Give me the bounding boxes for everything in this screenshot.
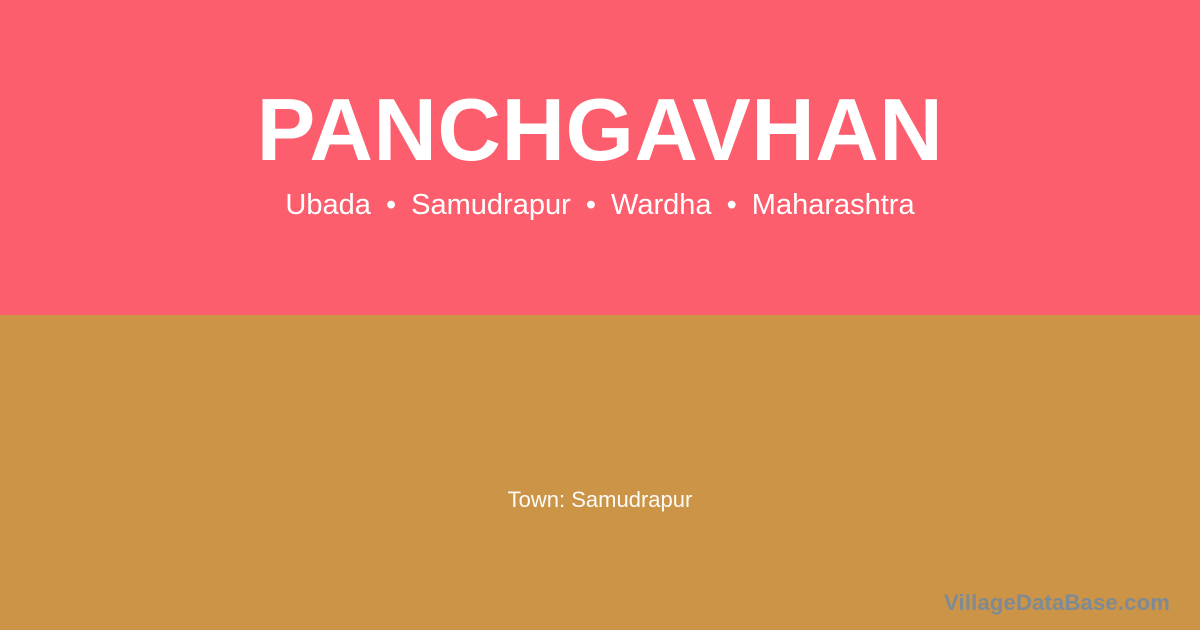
breadcrumb-separator-icon: • (720, 188, 744, 223)
hero-banner: PANCHGAVHAN Ubada • Samudrapur • Wardha … (0, 0, 1200, 315)
breadcrumb-item-state: Maharashtra (752, 189, 915, 221)
breadcrumb-separator-icon: • (379, 188, 403, 223)
breadcrumb-item-town: Samudrapur (411, 189, 571, 221)
town-detail: Town: Samudrapur (0, 486, 1200, 515)
breadcrumb-item-panchayat: Ubada (285, 189, 370, 221)
breadcrumb-separator-icon: • (579, 188, 603, 223)
site-watermark: VillageDataBase.com (944, 590, 1170, 616)
breadcrumb-item-district: Wardha (611, 189, 711, 221)
village-info-card: PANCHGAVHAN Ubada • Samudrapur • Wardha … (0, 0, 1200, 630)
page-title: PANCHGAVHAN (257, 86, 944, 174)
details-panel: Town: Samudrapur VillageDataBase.com (0, 315, 1200, 630)
breadcrumb: Ubada • Samudrapur • Wardha • Maharashtr… (285, 188, 914, 223)
